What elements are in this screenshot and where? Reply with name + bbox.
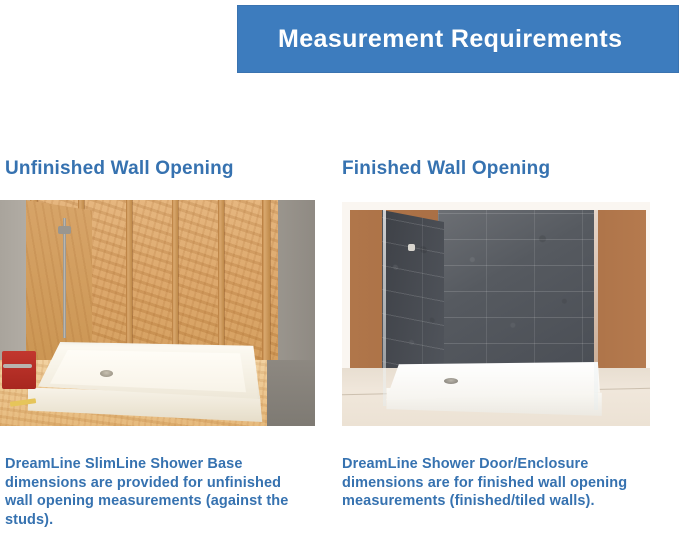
page-title: Measurement Requirements [238,25,622,54]
scene-unfinished [0,200,315,426]
floor-shadow-right [267,360,315,426]
scene-finished [342,202,650,426]
infographic-page: Measurement Requirements Unfinished Wall… [0,0,679,540]
toolbox-handle [3,364,32,368]
red-toolbox [2,351,36,389]
enclosure-edge-right [594,210,598,410]
shower-fixture [408,244,415,251]
section-heading-unfinished: Unfinished Wall Opening [5,158,234,180]
header-banner: Measurement Requirements [237,5,679,73]
plumbing-pipe [63,218,66,338]
shower-drain [100,370,113,377]
photo-unfinished-wall-opening [0,200,315,426]
wall-stud [262,200,270,384]
enclosure-edge-left [383,210,386,406]
section-heading-finished: Finished Wall Opening [342,158,550,180]
caption-finished: DreamLine Shower Door/Enclosure dimensio… [342,455,652,511]
shower-drain [444,378,458,384]
caption-unfinished: DreamLine SlimLine Shower Base dimension… [5,455,305,529]
tiled-back-wall [438,210,594,370]
pipe-fitting [58,226,71,234]
tile-texture [438,210,594,370]
photo-finished-wall-opening [342,202,650,426]
